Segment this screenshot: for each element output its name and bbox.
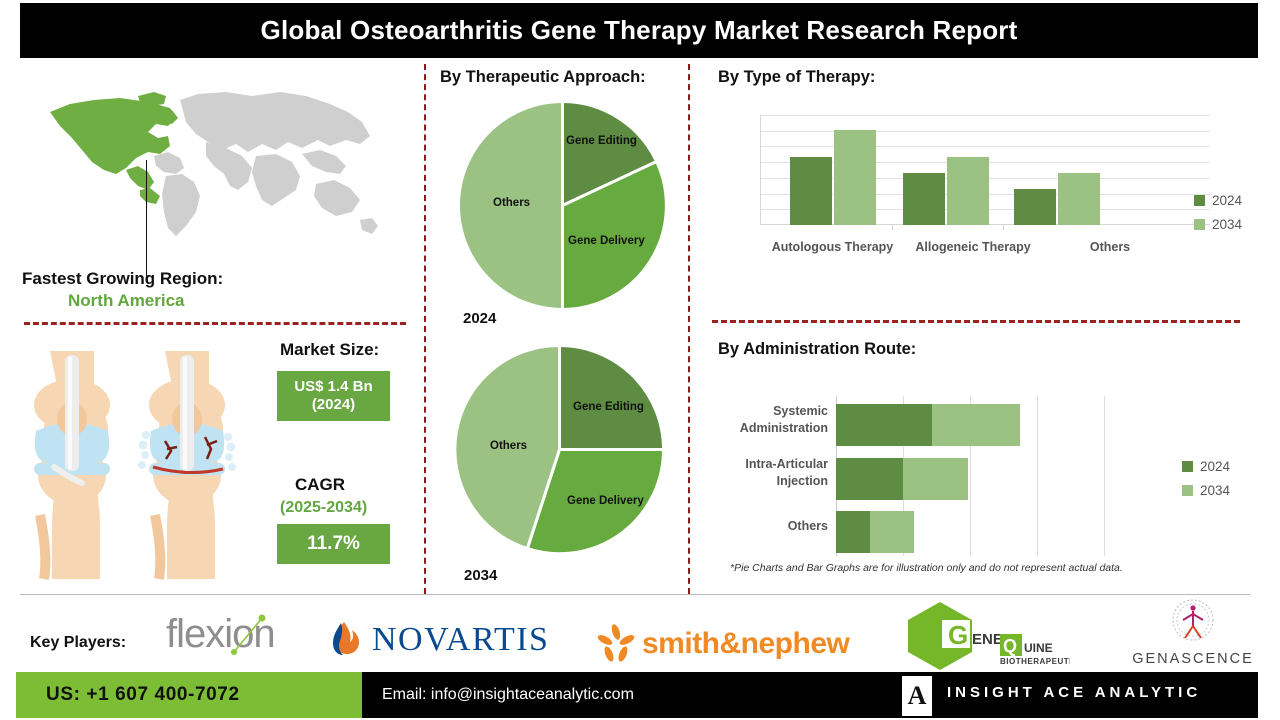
pie-chart-2034	[452, 342, 667, 557]
divider-vertical-right	[688, 64, 690, 594]
legend-label-2024: 2024	[1200, 459, 1230, 474]
hbar-intra-articular-2034	[903, 458, 968, 500]
market-size-label: Market Size:	[280, 340, 379, 360]
market-size-value-box: US$ 1.4 Bn (2024)	[277, 371, 390, 421]
page-title: Global Osteoarthritis Gene Therapy Marke…	[261, 15, 1018, 46]
divider-horizontal-bottom	[20, 594, 1250, 595]
divider-horizontal-right	[712, 320, 1240, 323]
cagr-label: CAGR	[295, 475, 345, 495]
world-map-icon	[30, 78, 380, 248]
section-title-administration-route: By Administration Route:	[718, 340, 916, 359]
footer-email: Email: info@insightaceanalytic.com	[382, 686, 634, 704]
hbar-others-2034	[870, 511, 914, 553]
logo-genequine: G ENE Q UINE BIOTHERAPEUTICS	[900, 600, 1070, 675]
hbar-intra-articular-2024	[836, 458, 903, 500]
market-size-line2: (2024)	[294, 396, 372, 414]
section-title-therapeutic-approach: By Therapeutic Approach:	[440, 68, 646, 87]
administration-route-legend: 2024 2034	[1182, 459, 1230, 507]
gridline	[760, 146, 1210, 147]
genequine-hex-icon: G ENE Q UINE BIOTHERAPEUTICS	[900, 600, 1070, 670]
legend-item-2024: 2024	[1194, 193, 1242, 208]
pie-2034-year: 2034	[464, 567, 497, 584]
pie-2024-year: 2024	[463, 310, 496, 327]
fastest-growing-region-value: North America	[68, 291, 185, 311]
bar-autologous-2034	[834, 130, 876, 225]
logo-genascence: GENASCENCE	[1128, 598, 1258, 667]
flexion-dots-icon	[166, 612, 167, 613]
pie-2034-slice-label-gene-editing: Gene Editing	[573, 401, 644, 413]
pie-2034-slice-label-others: Others	[490, 440, 527, 452]
hbar-others-2024	[836, 511, 870, 553]
pie-2024-slice-label-others: Others	[493, 197, 530, 209]
divider-vertical-left	[424, 64, 426, 594]
map-pointer-line	[146, 160, 147, 278]
bar-others-2024	[1014, 189, 1056, 225]
bar-others-2034	[1058, 173, 1100, 225]
footer-brand-mark: A	[902, 676, 932, 716]
legend-swatch-2024	[1182, 461, 1193, 472]
legend-swatch-2034	[1194, 219, 1205, 230]
svg-text:Q: Q	[1003, 636, 1017, 656]
pie-2034-slice-label-gene-delivery: Gene Delivery	[567, 495, 644, 507]
chart-disclaimer-note: *Pie Charts and Bar Graphs are for illus…	[730, 562, 1123, 574]
smith-nephew-star-icon	[596, 624, 636, 664]
bar-allogeneic-2024	[903, 173, 945, 225]
type-of-therapy-chart	[760, 115, 1210, 225]
legend-label-2034: 2034	[1212, 217, 1242, 232]
gridline	[1037, 396, 1038, 556]
gridline	[760, 115, 1210, 116]
logo-novartis-text: NOVARTIS	[372, 621, 549, 659]
gridline	[1104, 396, 1105, 556]
svg-text:ENE: ENE	[972, 631, 1003, 648]
footer-phone: US: +1 607 400-7072	[46, 684, 240, 706]
cagr-value-box: 11.7%	[277, 524, 390, 564]
section-title-type-of-therapy: By Type of Therapy:	[718, 68, 875, 87]
footer-brand-name: INSIGHT ACE ANALYTIC	[947, 684, 1201, 701]
novartis-flame-icon	[330, 620, 364, 660]
hbar-systemic-2034	[932, 404, 1020, 446]
logo-novartis: NOVARTIS	[330, 620, 549, 660]
cagr-years: (2025-2034)	[280, 499, 367, 517]
footer-brand-mark-letter: A	[908, 683, 927, 709]
logo-flexion: flexion	[166, 612, 275, 657]
gridline	[760, 131, 1210, 132]
legend-label-2024: 2024	[1212, 193, 1242, 208]
market-size-line1: US$ 1.4 Bn	[294, 378, 372, 396]
legend-item-2024: 2024	[1182, 459, 1230, 474]
hbar-category-others: Others	[706, 518, 828, 535]
pie-2024-slice-label-gene-editing: Gene Editing	[566, 135, 637, 147]
logo-flexion-text: flexion	[166, 612, 275, 656]
footer-info-bar: Email: info@insightaceanalytic.com A INS…	[362, 672, 1258, 718]
x-tick	[1003, 225, 1004, 230]
pie-2024-slice-label-gene-delivery: Gene Delivery	[568, 235, 645, 247]
knee-osteoarthritis-illustration-icon	[18, 345, 243, 585]
bar-allogeneic-2034	[947, 157, 989, 225]
administration-route-chart	[836, 396, 1106, 556]
hbar-category-others-text: Others	[788, 519, 828, 533]
divider-horizontal-left	[24, 322, 406, 325]
legend-item-2034: 2034	[1182, 483, 1230, 498]
hbar-systemic-2024	[836, 404, 932, 446]
key-players-label: Key Players:	[30, 634, 126, 652]
hbar-category-systemic: Systemic Administration	[710, 403, 828, 437]
hbar-category-intra-articular: Intra-Articular Injection	[706, 456, 828, 490]
header-bar: Global Osteoarthritis Gene Therapy Marke…	[20, 3, 1258, 58]
legend-label-2034: 2034	[1200, 483, 1230, 498]
x-tick	[892, 225, 893, 230]
bar-category-allogeneic: Allogeneic Therapy	[898, 240, 1048, 254]
bar-category-others: Others	[1060, 240, 1160, 254]
legend-item-2034: 2034	[1194, 217, 1242, 232]
legend-swatch-2024	[1194, 195, 1205, 206]
hbar-category-intra-articular-text: Intra-Articular Injection	[745, 457, 828, 488]
genascence-figure-icon	[1164, 598, 1222, 644]
svg-text:UINE: UINE	[1024, 641, 1053, 655]
fastest-growing-region-label: Fastest Growing Region:	[22, 269, 223, 289]
svg-text:G: G	[948, 620, 968, 650]
hbar-category-systemic-text: Systemic Administration	[740, 404, 828, 435]
logo-smith-and-nephew: smith&nephew	[596, 624, 849, 664]
type-of-therapy-legend: 2024 2034	[1194, 193, 1242, 241]
footer-phone-bar: US: +1 607 400-7072	[16, 672, 362, 718]
svg-text:BIOTHERAPEUTICS: BIOTHERAPEUTICS	[1000, 657, 1070, 666]
bar-autologous-2024	[790, 157, 832, 225]
y-axis	[760, 115, 761, 225]
bar-category-autologous: Autologous Therapy	[755, 240, 910, 254]
pie-chart-2024	[455, 98, 670, 313]
logo-genascence-text: GENASCENCE	[1128, 651, 1258, 667]
logo-smith-and-nephew-text: smith&nephew	[642, 627, 849, 661]
legend-swatch-2034	[1182, 485, 1193, 496]
